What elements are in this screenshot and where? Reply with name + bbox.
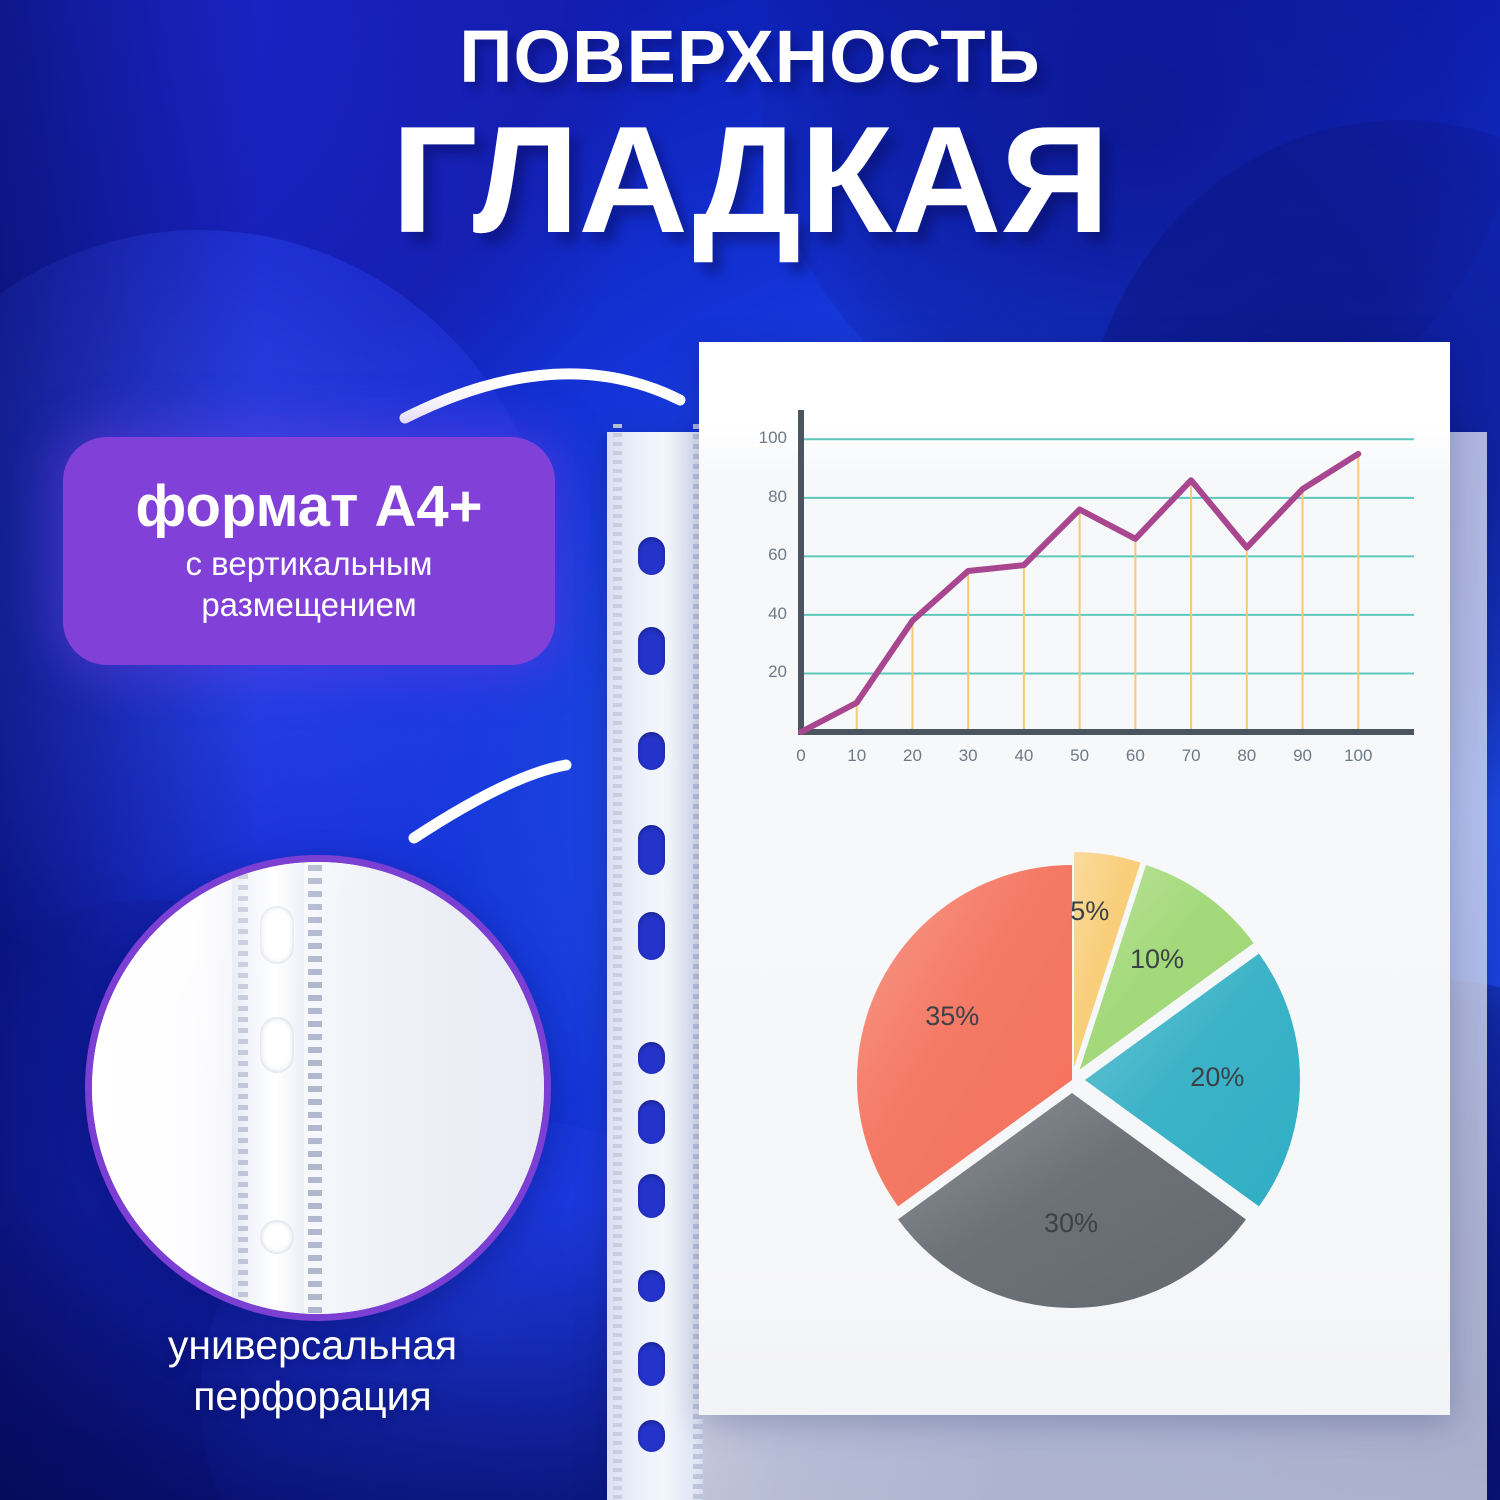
punch-hole xyxy=(638,1100,665,1144)
x-tick-label: 20 xyxy=(892,746,932,766)
perforation-caption-line-1: универсальная xyxy=(40,1320,585,1371)
format-badge: формат А4+ с вертикальным размещением xyxy=(63,437,555,665)
x-tick-label: 80 xyxy=(1227,746,1267,766)
line-chart-svg xyxy=(739,402,1419,802)
x-tick-label: 90 xyxy=(1283,746,1323,766)
y-tick-label: 40 xyxy=(747,604,787,624)
x-tick-label: 40 xyxy=(1004,746,1044,766)
punch-hole xyxy=(638,627,665,675)
perforation-zoom-circle xyxy=(85,855,551,1321)
punch-hole xyxy=(638,732,665,770)
punch-hole xyxy=(638,1420,665,1452)
line-chart-vertical-gridlines xyxy=(857,454,1359,732)
x-tick-label: 70 xyxy=(1171,746,1211,766)
y-tick-label: 80 xyxy=(747,487,787,507)
format-badge-subtitle: с вертикальным размещением xyxy=(186,544,433,625)
pie-chart-slices xyxy=(857,852,1300,1308)
x-tick-label: 100 xyxy=(1338,746,1378,766)
x-tick-label: 0 xyxy=(781,746,821,766)
zoom-glare xyxy=(92,862,544,1314)
printed-page: 20406080100 0102030405060708090100 5%10%… xyxy=(699,342,1450,1415)
promo-banner: ПОВЕРХНОСТЬ ГЛАДКАЯ формат А4+ с вертика… xyxy=(0,0,1500,1500)
pie-chart: 5%10%20%30%35% xyxy=(817,822,1337,1342)
punch-hole xyxy=(638,825,665,875)
punch-hole xyxy=(638,1342,665,1386)
x-tick-label: 30 xyxy=(948,746,988,766)
punch-hole xyxy=(638,1042,665,1074)
punch-hole xyxy=(638,912,665,960)
x-tick-label: 60 xyxy=(1115,746,1155,766)
x-tick-label: 50 xyxy=(1060,746,1100,766)
format-badge-title: формат А4+ xyxy=(135,477,482,536)
punch-hole xyxy=(638,1174,665,1218)
y-tick-label: 20 xyxy=(747,662,787,682)
y-tick-label: 60 xyxy=(747,545,787,565)
y-tick-label: 100 xyxy=(747,428,787,448)
pie-chart-svg xyxy=(817,822,1337,1342)
format-badge-subtitle-line-2: размещением xyxy=(186,585,433,625)
format-badge-subtitle-line-1: с вертикальным xyxy=(186,544,433,584)
x-tick-label: 10 xyxy=(837,746,877,766)
punch-hole xyxy=(638,1270,665,1302)
perforation-caption: универсальная перфорация xyxy=(40,1320,585,1423)
perforation-zoom-content xyxy=(92,862,544,1314)
punch-hole xyxy=(638,537,665,575)
line-chart: 20406080100 0102030405060708090100 xyxy=(739,402,1419,802)
perforation-caption-line-2: перфорация xyxy=(40,1371,585,1422)
binding-emboss-texture xyxy=(613,424,622,1500)
